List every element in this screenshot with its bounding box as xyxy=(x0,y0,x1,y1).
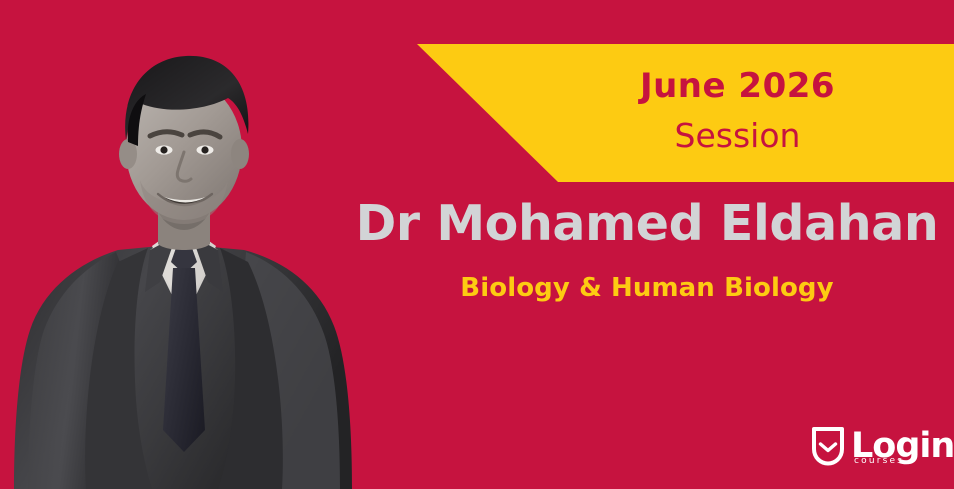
speaker-subject: Biology & Human Biology xyxy=(340,273,954,303)
speaker-info: Dr Mohamed Eldahan Biology & Human Biolo… xyxy=(340,198,954,303)
shield-check-icon xyxy=(810,425,846,467)
session-label: Session xyxy=(521,119,954,152)
logo-subtext: courses xyxy=(854,457,904,466)
session-ribbon: June 2026 Session xyxy=(411,44,954,182)
session-ribbon-text: June 2026 Session xyxy=(411,44,954,182)
session-month-year: June 2026 xyxy=(521,69,954,103)
brand-logo: Login courses xyxy=(810,421,946,471)
promo-banner: June 2026 Session Dr Mohamed Eldahan Bio… xyxy=(0,0,954,489)
speaker-name: Dr Mohamed Eldahan xyxy=(340,198,954,251)
logo-wordmark: Login courses xyxy=(851,429,954,464)
